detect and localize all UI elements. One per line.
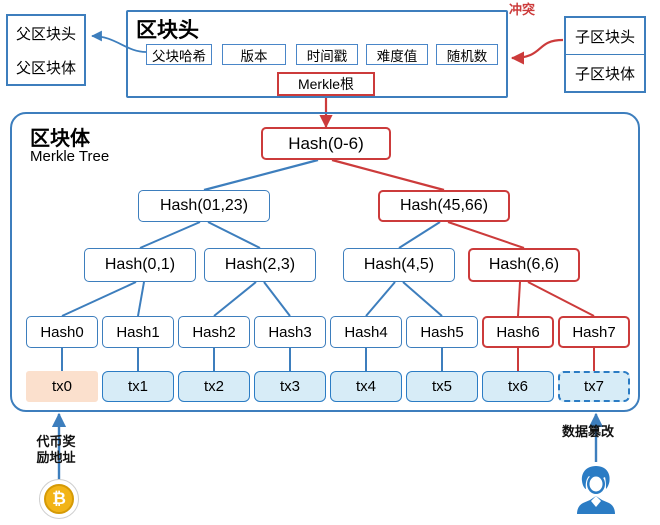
child-block-header-label: 子区块头 (566, 18, 644, 54)
parent-block-header-label: 父区块头 (8, 16, 84, 50)
transaction-tx0[interactable]: tx0 (26, 371, 98, 402)
attacker-person-icon (572, 462, 620, 514)
transaction-tx7[interactable]: tx7 (558, 371, 630, 402)
transaction-tx4[interactable]: tx4 (330, 371, 402, 402)
block-body-title: 区块体 (30, 122, 90, 151)
merkle-node-0-1[interactable]: Hash(0,1) (84, 248, 196, 282)
merkle-root-box[interactable]: Merkle根 (277, 72, 375, 96)
bitcoin-icon: ₿ (44, 484, 74, 514)
transaction-tx2[interactable]: tx2 (178, 371, 250, 402)
merkle-node-01-23[interactable]: Hash(01,23) (138, 190, 270, 222)
leaf-hash-4[interactable]: Hash4 (330, 316, 402, 348)
diagram-canvas: 父区块头 父区块体 子区块头 子区块体 冲突 区块头 父块哈希 版本 时间戳 难… (0, 0, 660, 525)
data-tamper-label: 数据篡改 (540, 424, 636, 440)
transaction-tx5[interactable]: tx5 (406, 371, 478, 402)
merkle-node-root[interactable]: Hash(0-6) (261, 127, 391, 160)
transaction-tx3[interactable]: tx3 (254, 371, 326, 402)
block-body-subtitle: Merkle Tree (30, 148, 109, 165)
field-nonce[interactable]: 随机数 (436, 44, 498, 65)
leaf-hash-6[interactable]: Hash6 (482, 316, 554, 348)
child-block-body-label: 子区块体 (566, 55, 644, 91)
leaf-hash-1[interactable]: Hash1 (102, 316, 174, 348)
transaction-tx6[interactable]: tx6 (482, 371, 554, 402)
leaf-hash-0[interactable]: Hash0 (26, 316, 98, 348)
merkle-node-6-6[interactable]: Hash(6,6) (468, 248, 580, 282)
leaf-hash-5[interactable]: Hash5 (406, 316, 478, 348)
leaf-hash-7[interactable]: Hash7 (558, 316, 630, 348)
field-version[interactable]: 版本 (222, 44, 286, 65)
block-header-title: 区块头 (136, 14, 199, 44)
field-difficulty[interactable]: 难度值 (366, 44, 428, 65)
coinbase-reward-label: 代币奖 励地址 (14, 434, 98, 466)
transaction-tx1[interactable]: tx1 (102, 371, 174, 402)
field-parent-hash[interactable]: 父块哈希 (146, 44, 212, 65)
parent-block-body-label: 父区块体 (8, 50, 84, 84)
merkle-node-45-66[interactable]: Hash(45,66) (378, 190, 510, 222)
merkle-node-4-5[interactable]: Hash(4,5) (343, 248, 455, 282)
merkle-node-2-3[interactable]: Hash(2,3) (204, 248, 316, 282)
leaf-hash-2[interactable]: Hash2 (178, 316, 250, 348)
field-timestamp[interactable]: 时间戳 (296, 44, 358, 65)
leaf-hash-3[interactable]: Hash3 (254, 316, 326, 348)
